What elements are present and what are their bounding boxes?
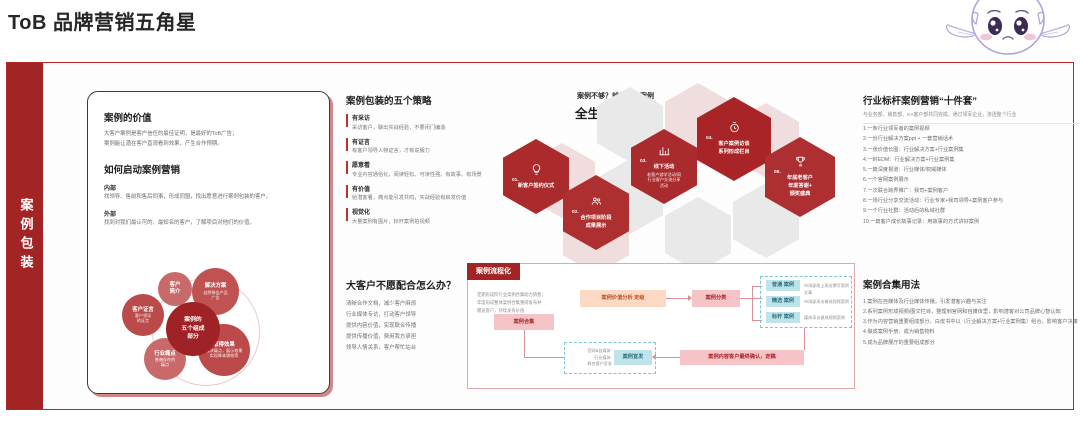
infographic-board: 案例包装 案例的价值 大客户案例是客户信任的最佳证明，是最好的ToB广告； 案例… [6,62,1074,410]
flow-node-promote: 案例宣发 [614,350,652,365]
strategy-name: 有证言 [352,137,508,146]
stage-number: 03. [640,159,647,164]
list-item: 2.系列案例形成视频/图文栏目，整理到官网和自媒体里，影响潜客对公司品牌心智认知 [863,307,1080,317]
five-components-bubble-chart: 客户 简介 解决方案 自然带出产品 广告 客户证言 客户领导 的证言 行业痛点 … [106,270,316,390]
list-item: 3.作为内容营销重要组成部分，白皮书中以（行业解决方案+行业案例集）组合，影响客… [863,317,1080,327]
stage-title: 合作项目阶段 成果展示 [575,215,616,231]
bubble-customer-intro: 客户 简介 [158,272,192,306]
list-item: 4.一封EDM：行业解决方案+行业案例集 [863,155,1080,165]
flagship-case-desc: 媒体采访做成视频案例 [804,315,850,322]
strategies-heading: 案例包装的五个策略 [346,93,508,107]
ten-pack-lead: 与业务部、销售部、KA客户部共同完成，通过领军企业，渗透整个行业 [863,111,1080,124]
strategy-item: 愿意看 专业内容通俗化，阅读轻松、可读性强、有故事、有场景 [346,160,508,178]
lightbulb-icon [530,163,543,176]
flow-node-collection: 案例合集 [494,314,554,330]
list-item: 6.一个官网案例展示 [863,175,1080,185]
list-item: 7.一次联合跨界推广：我司+案例客户 [863,186,1080,196]
strategy-item: 有价值 给潜客看，痛点能引发共鸣，实战经验有启发价值 [346,184,508,202]
ten-pack-heading: 行业标杆案例营销“十件套” [863,93,1080,107]
strategy-name: 有采访 [352,113,508,122]
chart-icon [658,144,671,157]
stage-number: 05. [774,170,781,175]
flow-arrow [804,328,805,350]
board-body: 案例的价值 大客户案例是客户信任的最佳证明，是最好的ToB广告； 案例能让潜在客… [43,63,1073,409]
external-text: 找到对我们最认可的、最知名的客户，了解项目对他们的价值。 [104,218,313,228]
flow-arrow [524,357,564,358]
case-value-heading: 案例的价值 [104,110,313,124]
bubble-desc: 普遍存在的 痛点 [155,357,175,367]
flow-panel-tag: 案例流程化 [467,263,520,280]
list-item: 5.成为品牌展厅的重要组成部分 [863,338,1080,348]
flow-node-common-case: 普通 案例 [766,280,800,291]
case-process-flow-panel: 案例流程化 定期形成阶行业案例合集助力销售； 年度形成整体案例合集重磅发布并 赠… [467,263,855,389]
flow-note: 定期形成阶行业案例合集助力销售； 年度形成整体案例合集重磅发布并 赠送客户，持续… [477,291,571,315]
flow-arrow [740,298,752,299]
common-case-desc: 市场部线上采访撰写案例文章 [804,283,850,296]
strategy-name: 愿意看 [352,160,508,169]
list-item: 2.一份行业解决方案ppt + 一套营销话术 [863,134,1080,144]
flow-arrow [654,357,680,358]
infographic-page: ToB 品牌营销五角星 [0,0,1080,424]
side-tab-label: 案例包装 [18,198,33,274]
strategy-desc: 有客户领导人物证言，才有说服力 [352,147,508,154]
list-item: 4.做成案例手册，成为销售物料 [863,327,1080,337]
promotion-channels: 官网&自媒体· 行业媒体· 联合客户宣发 [568,348,612,368]
flow-arrow [524,330,525,358]
page-title: ToB 品牌营销五角星 [8,6,196,35]
case-value-line1: 大客户案例是客户信任的最佳证明，是最好的ToB广告； [104,129,313,139]
bubble-center-label: 案例的 五个组成 部分 [181,316,204,341]
strategy-item: 有采访 采访客户，聊出实战经验，不要闭门编造 [346,113,508,131]
clock-icon [728,121,741,134]
flow-node-selected-case: 精选 案例 [766,296,800,307]
bubble-desc: 客户领导 的证言 [135,313,151,323]
side-tab: 案例包装 [7,63,43,409]
list-item: 1.案例在自媒体及行业媒体传播，引发潜客兴趣与关注 [863,297,1080,307]
collection-usage-list: 1.案例在自媒体及行业媒体传播，引发潜客兴趣与关注 2.系列案例形成视频/图文栏… [863,297,1080,348]
collection-usage-section: 案例合集用法 1.案例在自媒体及行业媒体传播，引发潜客兴趣与关注 2.系列案例形… [863,277,1080,348]
decorative-hexagon [665,197,731,272]
strategy-item: 视觉化 大量案例有图片，标杆案例拍视频 [346,207,508,225]
how-to-start-heading: 如何启动案例营销 [104,162,313,176]
internal-text: 找领导、售前和售后同事，形成同盟，找出愿意进行案例包装的客户。 [104,192,313,202]
flow-node-confirm: 案例内容客户最终确认，定稿 [680,350,804,365]
strategy-name: 视觉化 [352,207,508,216]
selected-case-desc: 市场部采访做成视频案例 [804,299,850,306]
stage-desc: 老客户游学活动/同 行业客户交流分享 活动 [643,172,685,190]
stage-number: 04. [706,136,713,141]
list-item: 10.一篇客户成长故事记录：用故事的方式讲好案例 [863,217,1080,227]
internal-label: 内部 [104,183,313,192]
list-item: 1.一条行业领军者的案例视频 [863,124,1080,134]
list-item: 9.一个行业社群：活动后的私域社群 [863,206,1080,216]
list-item: 3.一张价值长图：行业解决方案+行业案例集 [863,145,1080,155]
unicorn-mascot-icon [942,0,1074,58]
bubble-desc: 解决痛点，展示效果 实现降本增效等 [206,348,243,358]
bubble-title: 客户 简介 [170,282,181,296]
stage-title: 客户案例访谈 系列形成栏目 [713,141,754,157]
trophy-icon [794,155,807,168]
strategy-desc: 专业内容通俗化，阅读轻松、可读性强、有故事、有场景 [352,171,508,178]
strategy-desc: 大量案例有图片，标杆案例拍视频 [352,218,508,225]
stage-title: 年底老客户 年度答谢+ 颁奖盛典 [782,175,818,198]
ten-pack-section: 行业标杆案例营销“十件套” 与业务部、销售部、KA客户部共同完成，通过领军企业，… [863,93,1080,227]
people-icon [590,195,603,208]
flow-node-flagship-case: 标杆 案例 [766,312,800,323]
case-value-card: 案例的价值 大客户案例是客户信任的最佳证明，是最好的ToB广告； 案例能让潜在客… [87,91,330,394]
flow-arrow [666,298,690,299]
bubble-center: 案例的 五个组成 部分 [166,302,220,356]
strategy-desc: 采访客户，聊出实战经验，不要闭门编造 [352,124,508,131]
collection-usage-heading: 案例合集用法 [863,277,1080,291]
bubble-desc: 自然带出产品 广告 [203,290,228,300]
list-item: 5.一篇深度报道：行业媒体/权威媒体 [863,165,1080,175]
bubble-testimonial: 客户证言 客户领导 的证言 [122,294,164,336]
five-strategies-section: 案例包装的五个策略 有采访 采访客户，聊出实战经验，不要闭门编造 有证言 有客户… [346,93,508,225]
case-value-line2: 案例能让潜在客户直观看到效果，产生合作预期。 [104,139,313,149]
stage-title: 线下活动 [649,164,680,172]
strategy-item: 有证言 有客户领导人物证言，才有说服力 [346,137,508,155]
stage-title: 新客户签约仪式 [513,183,559,191]
bubble-title: 解决方案 [205,283,227,290]
external-label: 外部 [104,209,313,218]
flow-node-value-analysis: 案例价值分析 定级 [580,290,666,307]
ten-pack-list: 1.一条行业领军者的案例视频 2.一份行业解决方案ppt + 一套营销话术 3.… [863,124,1080,227]
list-item: 8.一场行业分享交流活动：行业专家+我司领导+案例客户参与 [863,196,1080,206]
flow-arrow [752,286,753,320]
lifecycle-diagram: 案例不够？就用客户案例 全生命周期法 [515,87,820,262]
strategy-name: 有价值 [352,184,508,193]
flow-node-classify: 案例分类 [692,290,740,307]
strategy-desc: 给潜客看，痛点能引发共鸣，实战经验有启发价值 [352,194,508,201]
